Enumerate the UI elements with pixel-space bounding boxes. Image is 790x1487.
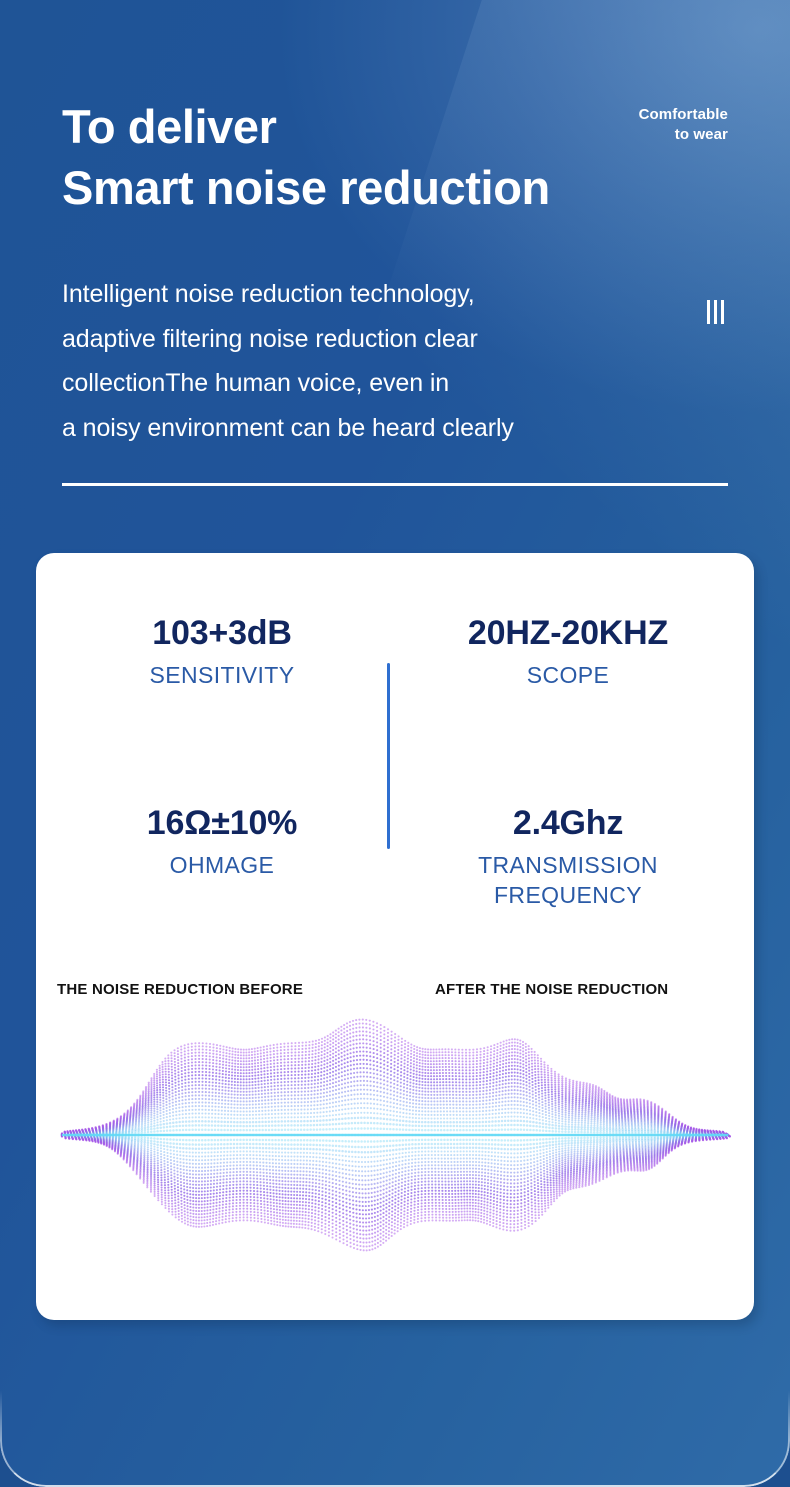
- spec-label: OHMAGE: [62, 851, 382, 880]
- bar-2: [714, 300, 717, 324]
- waveform-caption-before: THE NOISE REDUCTION BEFORE: [57, 981, 303, 998]
- comfort-badge-line1: Comfortable: [639, 105, 728, 125]
- comfort-badge-line2: to wear: [639, 125, 728, 145]
- promo-page: Comfortable to wear To deliver Smart noi…: [0, 0, 790, 1487]
- spec-item-sensitivity: 103+3dB SENSITIVITY: [62, 613, 382, 691]
- waveform-caption-after: AFTER THE NOISE REDUCTION: [435, 981, 668, 998]
- spec-value: 103+3dB: [62, 613, 382, 653]
- spec-value: 2.4Ghz: [408, 803, 728, 843]
- spec-value: 20HZ-20KHZ: [408, 613, 728, 653]
- spec-item-transmission-frequency: 2.4Ghz TRANSMISSION FREQUENCY: [408, 803, 728, 910]
- page-description: Intelligent noise reduction technology, …: [62, 272, 514, 450]
- page-title: To deliver Smart noise reduction: [62, 96, 550, 218]
- three-bars-icon: [707, 300, 724, 324]
- comfort-badge: Comfortable to wear: [639, 105, 728, 144]
- bar-3: [721, 300, 724, 324]
- spec-item-scope: 20HZ-20KHZ SCOPE: [408, 613, 728, 691]
- spec-vertical-divider: [387, 663, 390, 849]
- spec-label: SCOPE: [408, 661, 728, 690]
- spec-card: 103+3dB SENSITIVITY 20HZ-20KHZ SCOPE 16Ω…: [36, 553, 754, 1320]
- spec-value: 16Ω±10%: [62, 803, 382, 843]
- spec-label: SENSITIVITY: [62, 661, 382, 690]
- bar-1: [707, 300, 710, 324]
- waveform-svg: [36, 1015, 754, 1255]
- header-divider: [62, 483, 728, 486]
- spec-label: TRANSMISSION FREQUENCY: [408, 851, 728, 910]
- waveform-visualization: [36, 1015, 754, 1255]
- spec-item-ohmage: 16Ω±10% OHMAGE: [62, 803, 382, 881]
